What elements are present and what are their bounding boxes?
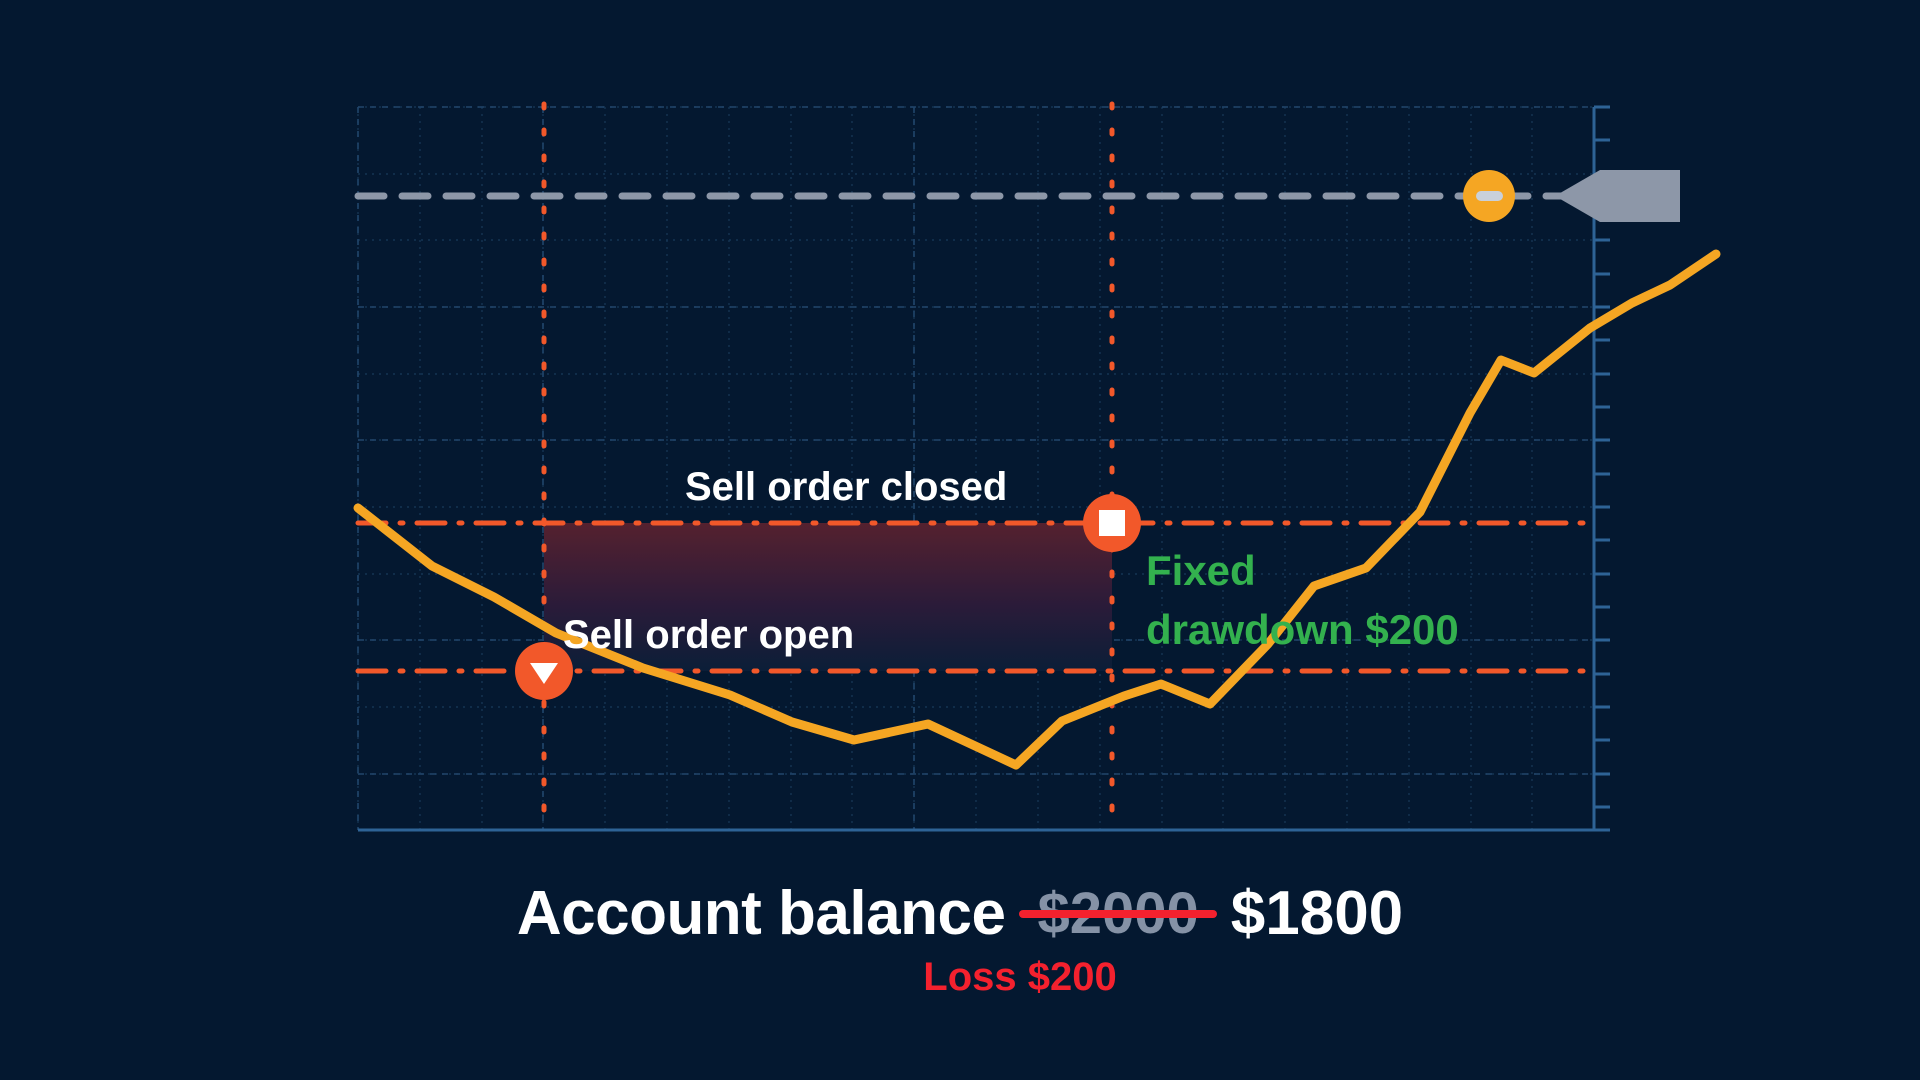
annotation-sell-order-closed: Sell order closed xyxy=(685,465,1007,509)
old-balance-value: $2000 xyxy=(1031,880,1204,947)
equity-chart: Sell order closed Sell order open Fixed … xyxy=(0,0,1920,880)
annotation-sell-order-open: Sell order open xyxy=(563,613,854,657)
annotation-fixed-drawdown-line1: Fixed xyxy=(1146,547,1256,594)
infographic-root: Sell order closed Sell order open Fixed … xyxy=(0,0,1920,1080)
annotation-fixed-drawdown-line2: drawdown $200 xyxy=(1146,606,1459,653)
loss-label: Loss $200 xyxy=(0,955,1920,1000)
arrow-left-flag-icon xyxy=(1555,170,1680,222)
balance-line: Account balance $2000 $1800 xyxy=(0,878,1920,949)
new-balance-value: $1800 xyxy=(1231,878,1403,949)
balance-endpoint-marker[interactable] xyxy=(1463,170,1515,222)
strikethrough-line xyxy=(1019,910,1216,918)
square-icon xyxy=(1099,510,1125,536)
chart-svg: Sell order closed Sell order open Fixed … xyxy=(0,0,1920,880)
balance-summary: Account balance $2000 $1800 Loss $200 xyxy=(0,878,1920,1000)
balance-label: Account balance xyxy=(517,878,1006,949)
minus-icon xyxy=(1476,191,1503,201)
sell-order-closed-marker[interactable] xyxy=(1083,494,1141,552)
